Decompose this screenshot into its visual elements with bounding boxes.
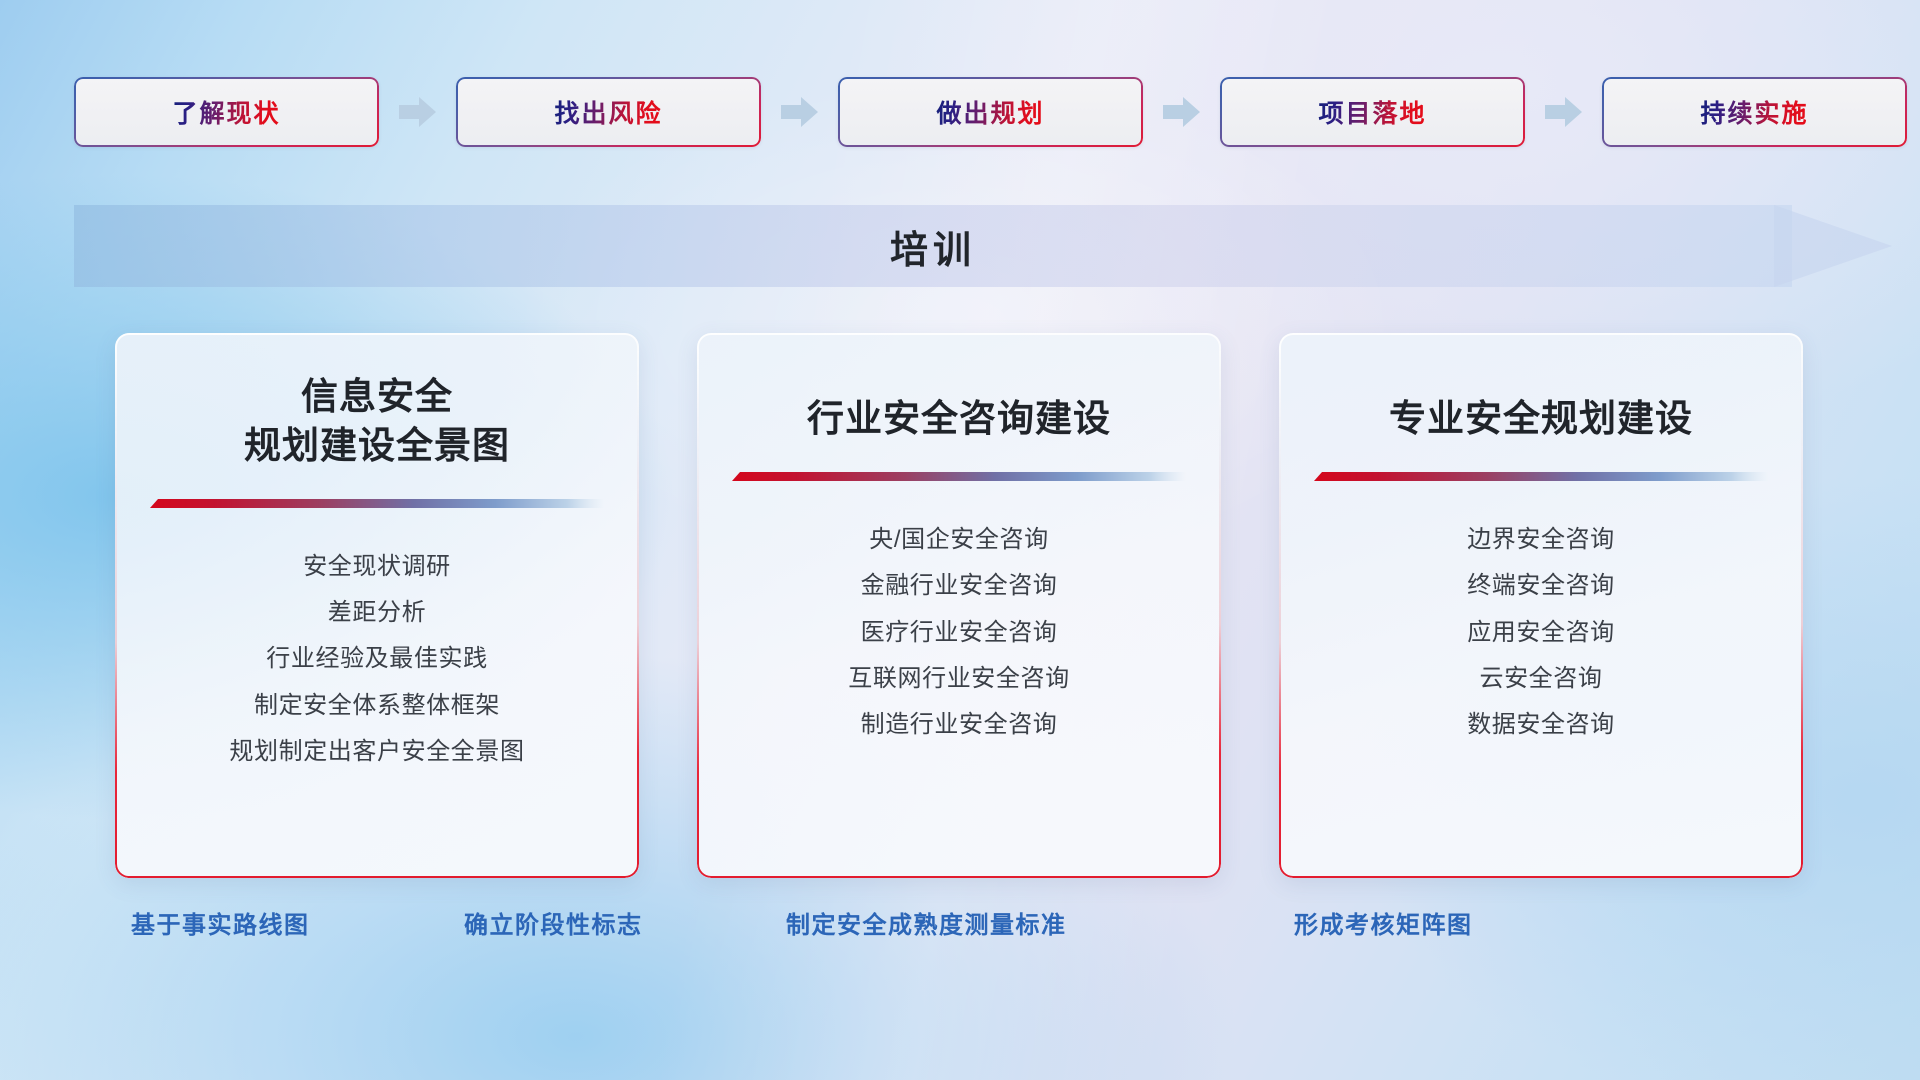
process-step-5[interactable]: 持续实施 xyxy=(1602,77,1907,147)
process-step-wrap-5: 持续实施 xyxy=(1602,77,1907,147)
process-step-wrap-1: 了解现状 xyxy=(74,77,456,147)
process-step-4[interactable]: 项目落地 xyxy=(1220,77,1525,147)
arrow-right-icon xyxy=(1545,97,1582,127)
caption-4: 形成考核矩阵图 xyxy=(1294,905,1473,940)
list-item: 云安全咨询 xyxy=(1479,663,1602,695)
list-item: 边界安全咨询 xyxy=(1467,524,1615,556)
list-item: 央/国企安全咨询 xyxy=(869,524,1048,556)
card-2-inner: 行业安全咨询建设 xyxy=(697,333,1221,878)
list-item: 制定安全体系整体框架 xyxy=(254,690,500,722)
arrow-right-icon xyxy=(399,97,436,127)
list-item: 行业经验及最佳实践 xyxy=(266,643,487,675)
card-1-list: 安全现状调研 差距分析 行业经验及最佳实践 制定安全体系整体框架 规划制定出客户… xyxy=(229,551,524,769)
card-1-title: 信息安全 规划建设全景图 xyxy=(244,373,510,471)
card-2-title: 行业安全咨询建设 xyxy=(807,373,1111,444)
card-3-list: 边界安全咨询 终端安全咨询 应用安全咨询 云安全咨询 数据安全咨询 xyxy=(1467,524,1615,742)
arrow-right-icon xyxy=(1163,97,1200,127)
list-item: 互联网行业安全咨询 xyxy=(848,663,1069,695)
list-item: 安全现状调研 xyxy=(303,551,451,583)
card-3[interactable]: 专业安全规划建设 xyxy=(1279,333,1803,878)
process-step-2-label: 找出风险 xyxy=(554,94,662,130)
list-item: 制造行业安全咨询 xyxy=(861,709,1058,741)
card-group: 信息安全 规划建设全景图 xyxy=(0,333,1920,878)
list-item: 医疗行业安全咨询 xyxy=(861,617,1058,649)
list-item: 终端安全咨询 xyxy=(1467,570,1615,602)
card-2[interactable]: 行业安全咨询建设 xyxy=(697,333,1221,878)
process-step-2[interactable]: 找出风险 xyxy=(456,77,761,147)
card-2-divider xyxy=(732,470,1186,484)
process-step-1[interactable]: 了解现状 xyxy=(74,77,379,147)
caption-row: 基于事实路线图 确立阶段性标志 制定安全成熟度测量标准 形成考核矩阵图 xyxy=(0,905,1920,955)
card-3-inner: 专业安全规划建设 xyxy=(1279,333,1803,878)
list-item: 应用安全咨询 xyxy=(1467,617,1615,649)
process-step-4-label: 项目落地 xyxy=(1318,94,1426,130)
card-3-divider xyxy=(1314,470,1768,484)
caption-1: 基于事实路线图 xyxy=(131,905,310,940)
process-step-3-label: 做出规划 xyxy=(936,94,1044,130)
card-2-list: 央/国企安全咨询 金融行业安全咨询 医疗行业安全咨询 互联网行业安全咨询 制造行… xyxy=(848,524,1069,742)
caption-3: 制定安全成熟度测量标准 xyxy=(786,905,1067,940)
list-item: 规划制定出客户安全全景图 xyxy=(229,736,524,768)
process-step-wrap-4: 项目落地 xyxy=(1220,77,1602,147)
training-banner: 培训 xyxy=(74,205,1852,287)
list-item: 金融行业安全咨询 xyxy=(861,570,1058,602)
process-step-1-label: 了解现状 xyxy=(172,94,280,130)
arrow-right-icon xyxy=(781,97,818,127)
process-step-wrap-3: 做出规划 xyxy=(838,77,1220,147)
process-step-3[interactable]: 做出规划 xyxy=(838,77,1143,147)
list-item: 数据安全咨询 xyxy=(1467,709,1615,741)
caption-2: 确立阶段性标志 xyxy=(464,905,643,940)
card-1-inner: 信息安全 规划建设全景图 xyxy=(115,333,639,878)
banner-title: 培训 xyxy=(74,205,1792,287)
process-flow: 了解现状 找出风险 做出规划 项目落地 持续实施 xyxy=(0,76,1920,148)
process-step-wrap-2: 找出风险 xyxy=(456,77,838,147)
card-1[interactable]: 信息安全 规划建设全景图 xyxy=(115,333,639,878)
list-item: 差距分析 xyxy=(328,597,426,629)
card-1-divider xyxy=(150,497,604,511)
process-step-5-label: 持续实施 xyxy=(1700,94,1808,130)
card-3-title: 专业安全规划建设 xyxy=(1389,373,1693,444)
